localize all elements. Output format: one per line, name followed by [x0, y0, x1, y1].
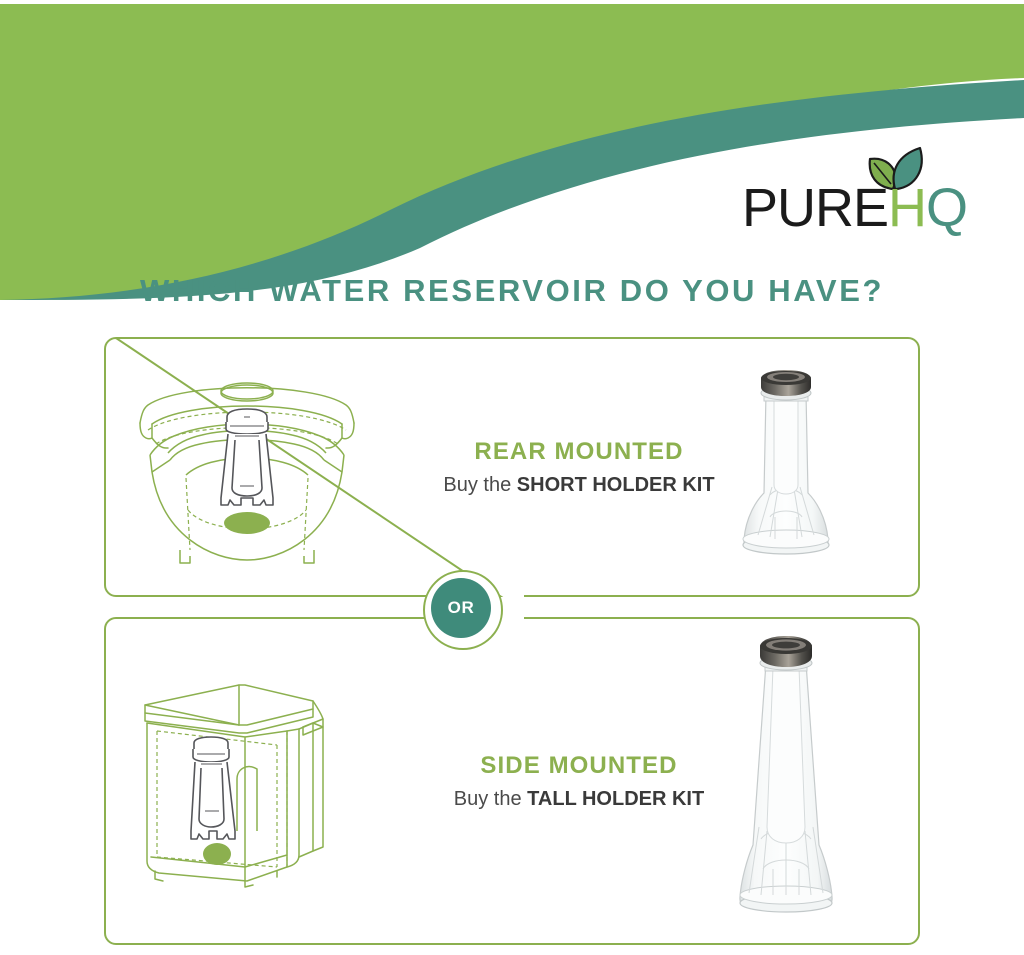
boxy-reservoir-line-drawing [127, 671, 367, 891]
product-photo-tall-holder [666, 617, 906, 945]
tall-holder-kit-clear-tube [731, 631, 841, 931]
option-sub-prefix-rear: Buy the [443, 474, 516, 496]
option-title-rear: REAR MOUNTED [474, 438, 683, 466]
option-card-side-mounted[interactable]: SIDE MOUNTED Buy the TALL HOLDER KIT [104, 617, 920, 945]
illustration-rear-mounted [114, 337, 380, 597]
curved-reservoir-line-drawing [122, 360, 372, 575]
product-photo-short-holder [666, 337, 906, 597]
indicator-dot-side [203, 843, 231, 865]
logo-text-h: H [888, 178, 926, 238]
option-card-rear-mounted[interactable]: REAR MOUNTED Buy the SHORT HOLDER KIT [104, 337, 920, 597]
page-title: WHICH WATER RESERVOIR DO YOU HAVE? [0, 273, 1024, 309]
option-title-side: SIDE MOUNTED [480, 752, 677, 780]
brand-logo: PUREHQ [742, 145, 932, 235]
short-holder-kit-clear-tube [726, 367, 846, 567]
or-badge: OR [431, 578, 491, 638]
option-sub-prefix-side: Buy the [454, 788, 527, 810]
logo-text-q: Q [926, 178, 967, 238]
illustration-side-mounted [114, 617, 380, 945]
indicator-dot-rear [224, 512, 270, 534]
infographic-page: PUREHQ WHICH WATER RESERVOIR DO YOU HAVE… [0, 0, 1024, 955]
logo-text-pure: PURE [742, 178, 888, 238]
logo-wordmark: PUREHQ [742, 181, 932, 235]
